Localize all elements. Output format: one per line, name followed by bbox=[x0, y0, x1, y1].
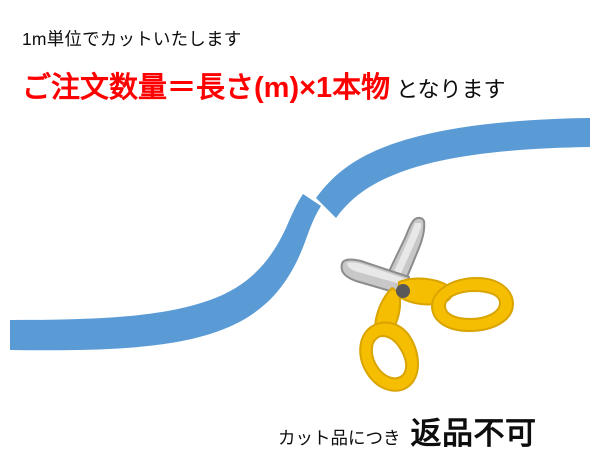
cut-service-notice-graphic: 1m単位でカットいたします ご注文数量＝長さ(m)×1本物となります カット品に… bbox=[0, 0, 600, 466]
return-note-strong: 返品不可 bbox=[411, 416, 537, 451]
scissor-shank-lower bbox=[375, 288, 400, 336]
cut-unit-note: 1m単位でカットいたします bbox=[22, 31, 241, 49]
scissor-handle-loop-right bbox=[432, 278, 513, 331]
order-formula-line: ご注文数量＝長さ(m)×1本物となります bbox=[22, 74, 506, 103]
illustration-canvas bbox=[0, 0, 600, 466]
scissor-blade-left-highlight bbox=[347, 262, 406, 285]
scissor-blade-left bbox=[342, 260, 409, 296]
scissor-blade-upper-highlight bbox=[389, 223, 421, 287]
band-segment-upper bbox=[316, 118, 590, 218]
scissor-pivot-screw bbox=[396, 284, 410, 298]
return-policy-note: カット品につき返品不可 bbox=[278, 418, 537, 449]
band-segment-lower bbox=[10, 194, 321, 350]
scissor-blade-upper bbox=[383, 218, 424, 294]
blue-cable-band-upper bbox=[316, 118, 590, 218]
scissor-handle-loop-lower bbox=[360, 323, 418, 391]
blue-cable-band-lower bbox=[10, 194, 321, 350]
order-formula-red-text: ご注文数量＝長さ(m)×1本物 bbox=[22, 72, 390, 104]
scissors-icon bbox=[342, 218, 513, 391]
order-formula-tail-text: となります bbox=[396, 77, 505, 102]
scissor-shank-right bbox=[398, 278, 452, 304]
return-note-prefix: カット品につき bbox=[278, 428, 401, 448]
